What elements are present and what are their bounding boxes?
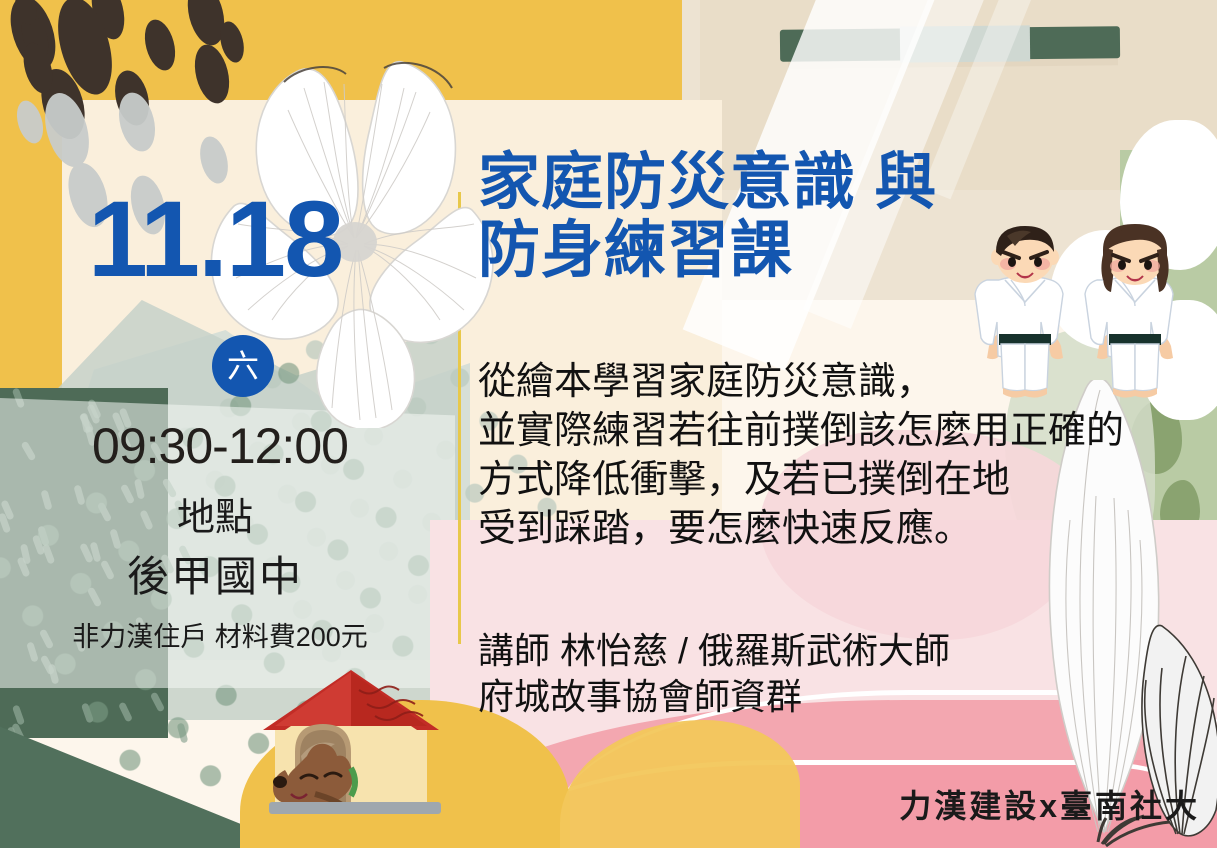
doghouse-illustration — [255, 660, 470, 848]
fee-note: 非力漢住戶 材料費200元 — [0, 620, 440, 654]
title-line-2: 防身練習課 — [478, 220, 1078, 282]
place-name: 後甲國中 — [0, 552, 430, 602]
dash-mark — [11, 705, 24, 726]
poster-title: 家庭防災意識 與 防身練習課 — [478, 152, 1078, 282]
organizer-footer: 力漢建設x臺南社大 — [830, 786, 1200, 826]
event-time: 09:30-12:00 — [0, 418, 440, 474]
instructor-line: 講師 林怡慈 / 俄羅斯武術大師 — [478, 628, 1118, 674]
description-line: 從繪本學習家庭防災意識， — [478, 358, 1178, 407]
place-label: 地點 — [0, 495, 430, 541]
title-line-1: 家庭防災意識 與 — [478, 148, 937, 217]
instructor-text: 講師 林怡慈 / 俄羅斯武術大師 府城故事協會師資群 — [478, 628, 1118, 720]
poster-canvas: 11.18 六 09:30-12:00 地點 後甲國中 非力漢住戶 材料費200… — [0, 0, 1217, 848]
weekday-badge: 六 — [212, 335, 274, 397]
description-text: 從繪本學習家庭防災意識， 並實際練習若往前撲倒該怎麼用正確的 方式降低衝擊，及若… — [478, 358, 1178, 554]
description-line: 受到踩踏，要怎麼快速反應。 — [478, 505, 1178, 554]
description-line: 方式降低衝擊，及若已撲倒在地 — [478, 456, 1178, 505]
instructor-line: 府城故事協會師資群 — [478, 674, 1118, 720]
event-date: 11.18 — [0, 185, 430, 293]
description-line: 並實際練習若往前撲倒該怎麼用正確的 — [478, 407, 1178, 456]
